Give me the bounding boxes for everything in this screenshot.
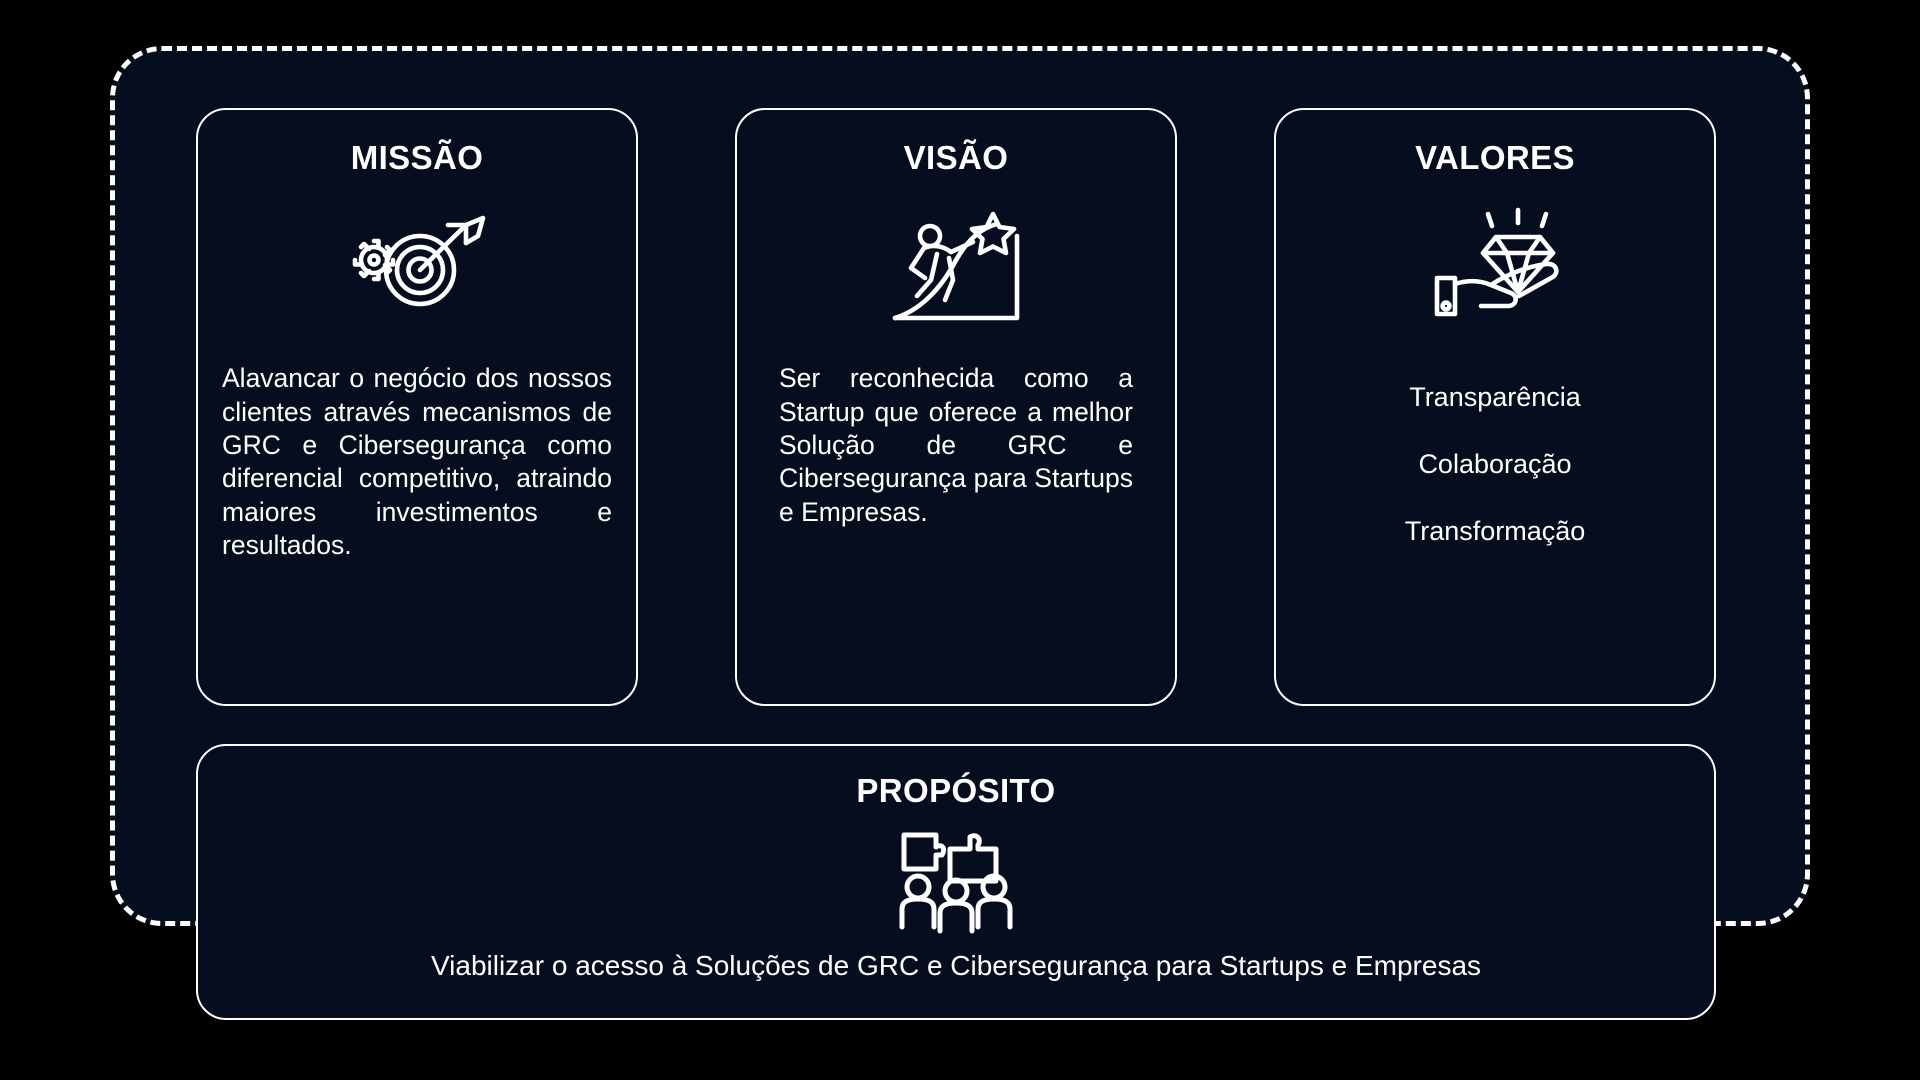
value-item: Transformação <box>1405 516 1586 547</box>
card-visao[interactable]: VISÃO Se <box>735 108 1177 706</box>
value-item: Colaboração <box>1418 449 1571 480</box>
card-proposito[interactable]: PROPÓSITO Viabilizar o acesso à Soluções… <box>196 744 1716 1020</box>
slide-canvas: MISSÃO <box>0 0 1920 1080</box>
people-puzzle-icon <box>892 816 1020 942</box>
values-list: Transparência Colaboração Transformação <box>1300 382 1690 547</box>
target-gear-icon <box>342 202 492 334</box>
card-missao-title: MISSÃO <box>351 140 484 176</box>
card-proposito-text: Viabilizar o acesso à Soluções de GRC e … <box>431 950 1481 982</box>
card-missao-body: Alavancar o negócio dos nossos clientes … <box>222 362 612 562</box>
diamond-hand-icon <box>1415 202 1575 334</box>
card-proposito-title: PROPÓSITO <box>856 772 1055 810</box>
climber-star-icon <box>881 202 1031 334</box>
cards-row: MISSÃO <box>196 108 1716 706</box>
card-valores[interactable]: VALORES <box>1274 108 1716 706</box>
card-visao-body: Ser reconhecida como a Startup que ofere… <box>761 362 1151 529</box>
value-item: Transparência <box>1409 382 1581 413</box>
card-visao-title: VISÃO <box>904 140 1009 176</box>
card-valores-title: VALORES <box>1415 140 1575 176</box>
card-missao[interactable]: MISSÃO <box>196 108 638 706</box>
